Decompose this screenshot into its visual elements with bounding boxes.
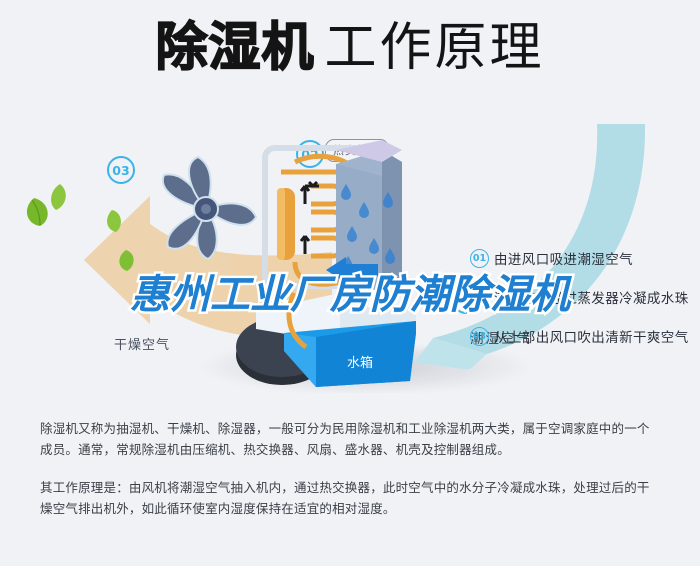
page-root: 除湿机工作原理 干燥空气 潮湿空气 03 02 01 热交换器: [0, 0, 700, 566]
page-title: 除湿机工作原理: [0, 22, 700, 74]
step-number: 03: [470, 327, 489, 346]
paragraph-1: 除湿机又称为抽湿机、干燥机、除湿器，一般可分为民用除湿机和工业除湿机两大类，属于…: [40, 418, 660, 460]
watermark-text: 惠州工业厂房防潮除湿机: [0, 262, 700, 320]
step-item-03: 03 从上部出风口吹出清新干爽空气: [470, 326, 698, 346]
fan-icon: [150, 153, 262, 265]
water-tank-text: 水箱: [347, 355, 373, 371]
paragraph-gap: [40, 468, 660, 477]
body-copy: 除湿机又称为抽湿机、干燥机、除湿器，一般可分为民用除湿机和工业除湿机两大类，属于…: [40, 418, 660, 527]
page-title-light: 工作原理: [325, 18, 545, 78]
paragraph-2: 其工作原理是：由风机将潮湿空气抽入机内，通过热交换器，此时空气中的水分子冷凝成水…: [40, 477, 660, 519]
badge-03: 03: [107, 156, 135, 184]
page-title-bold: 除湿机: [155, 18, 314, 78]
dry-air-label: 干燥空气: [114, 334, 170, 353]
step-label: 从上部出风口吹出清新干爽空气: [494, 326, 689, 346]
